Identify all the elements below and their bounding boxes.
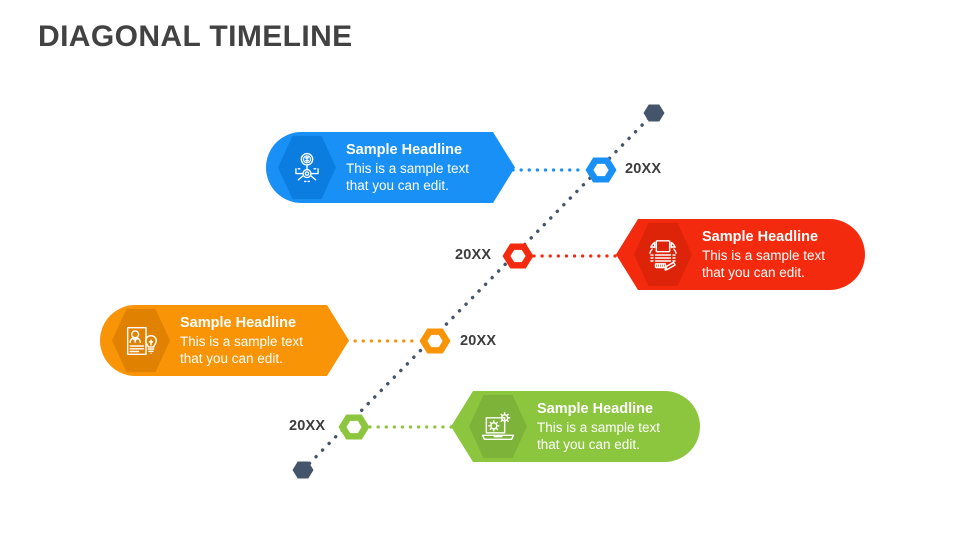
- timeline-year-label-1: 20XX: [625, 161, 661, 177]
- slide-canvas: DIAGONAL TIMELINE Sample HeadlineThis is…: [0, 0, 960, 540]
- timeline-nodes-layer: [0, 0, 960, 540]
- timeline-year-label-3: 20XX: [460, 333, 496, 349]
- timeline-year-label-2: 20XX: [455, 247, 491, 263]
- timeline-year-label-4: 20XX: [289, 418, 325, 434]
